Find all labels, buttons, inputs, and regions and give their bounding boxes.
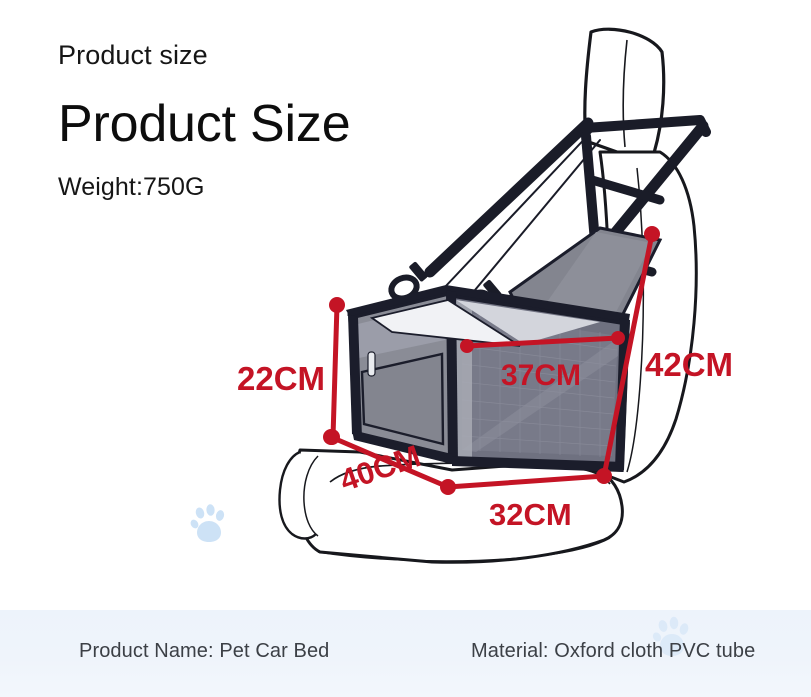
endpoint-corner-vertex <box>440 479 456 495</box>
endpoint-37cm-right <box>611 331 625 345</box>
endpoint-42cm-top <box>644 226 660 242</box>
dimension-label-22cm: 22CM <box>237 362 325 395</box>
dimension-label-37cm: 37CM <box>501 361 581 391</box>
footer-material: Material: Oxford cloth PVC tube <box>471 640 755 663</box>
product-size-infographic: Product size Product Size Weight:750G <box>0 0 811 697</box>
bed-left-zipper-pull <box>368 352 375 376</box>
dimension-line-22cm <box>333 305 337 437</box>
footer-product-name: Product Name: Pet Car Bed <box>79 640 329 663</box>
paw-print-icon <box>188 502 228 546</box>
endpoint-22cm-top <box>329 297 345 313</box>
endpoint-40cm-left <box>323 429 339 445</box>
footer-band: Product Name: Pet Car Bed Material: Oxfo… <box>0 610 811 697</box>
dimension-label-32cm: 32CM <box>489 499 572 530</box>
dimension-label-42cm: 42CM <box>645 348 733 381</box>
product-illustration <box>0 0 811 620</box>
endpoint-32cm-right <box>596 468 612 484</box>
endpoint-37cm-left <box>460 339 474 353</box>
